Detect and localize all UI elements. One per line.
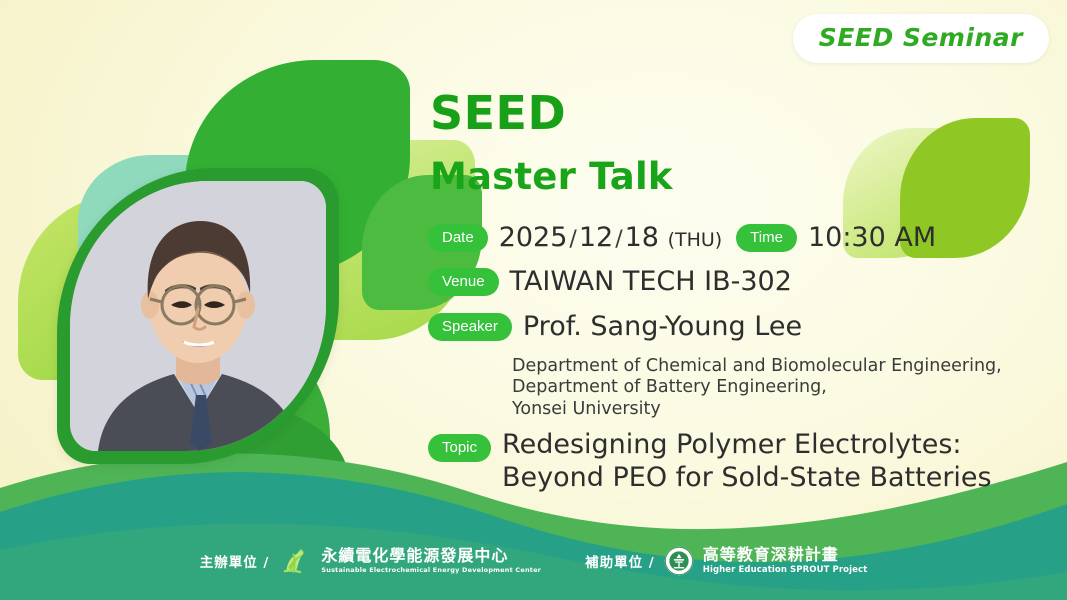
date-separator-2: / <box>613 227 624 252</box>
date-weekday: (THU) <box>668 229 723 251</box>
speaker-block: Speaker Prof. Sang-Young Lee Department … <box>428 311 1038 420</box>
date-month: 12 <box>579 222 613 253</box>
speaker-row: Speaker Prof. Sang-Young Lee <box>428 311 1038 345</box>
host-name-en: Sustainable Electrochemical Energy Devel… <box>321 567 541 574</box>
speaker-affiliation: Department of Chemical and Biomolecular … <box>512 356 1038 420</box>
speaker-portrait-frame <box>57 168 339 464</box>
date-time-row: Date 2025/12/18 (THU) Time 10:30 AM <box>428 223 1038 256</box>
sponsor-label: 補助單位 / <box>585 551 655 571</box>
sponsor-name-en: Higher Education SPROUT Project <box>703 566 868 575</box>
date-day: 18 <box>625 222 659 253</box>
host-name-zh: 永續電化學能源發展中心 <box>321 548 541 565</box>
page-subtitle-master-talk: Master Talk <box>430 158 1038 195</box>
host-label: 主辦單位 / <box>200 551 270 571</box>
date-label-pill: Date <box>428 224 488 252</box>
speaker-affiliation-line-3: Yonsei University <box>512 399 1038 420</box>
sponsor-organization: 補助單位 / 高等教育深耕計畫 Higher Education SPROUT … <box>585 546 867 576</box>
speaker-portrait <box>70 181 326 451</box>
venue-row: Venue TAIWAN TECH IB-302 <box>428 267 1038 300</box>
topic-line-1: Redesigning Polymer Electrolytes: <box>502 429 992 462</box>
sponsor-name-zh: 高等教育深耕計畫 <box>703 547 868 564</box>
host-names: 永續電化學能源發展中心 Sustainable Electrochemical … <box>321 548 541 574</box>
sponsor-names: 高等教育深耕計畫 Higher Education SPROUT Project <box>703 547 868 575</box>
speaker-affiliation-line-1: Department of Chemical and Biomolecular … <box>512 356 1038 377</box>
topic-value: Redesigning Polymer Electrolytes: Beyond… <box>502 429 992 495</box>
seminar-poster: SEED Seminar SEED Master Talk Date 2025/… <box>0 0 1067 600</box>
seed-leaf-logo-icon <box>278 544 312 578</box>
topic-row: Topic Redesigning Polymer Electrolytes: … <box>428 429 1038 495</box>
date-value: 2025/12/18 (THU) <box>499 223 723 253</box>
speaker-affiliation-line-2: Department of Battery Engineering, <box>512 377 1038 398</box>
date-year: 2025 <box>499 222 568 253</box>
venue-label-pill: Venue <box>428 268 499 296</box>
time-value: 10:30 AM <box>808 223 936 253</box>
page-title-seed: SEED <box>430 90 1038 136</box>
date-separator-1: / <box>567 227 578 252</box>
poster-content: SEED Master Talk Date 2025/12/18 (THU) T… <box>428 90 1038 495</box>
time-label-pill: Time <box>736 224 797 252</box>
host-organization: 主辦單位 / 永續電化學能源發展中心 Sustainable Electroch… <box>200 544 541 578</box>
venue-value: TAIWAN TECH IB-302 <box>510 267 792 297</box>
poster-footer: 主辦單位 / 永續電化學能源發展中心 Sustainable Electroch… <box>0 522 1067 600</box>
moe-seal-logo-icon <box>664 546 694 576</box>
speaker-photo-illustration <box>70 181 326 451</box>
speaker-label-pill: Speaker <box>428 313 512 341</box>
topic-label-pill: Topic <box>428 434 491 462</box>
topic-line-2: Beyond PEO for Sold-State Batteries <box>502 462 992 495</box>
seed-seminar-badge: SEED Seminar <box>793 14 1049 63</box>
seed-seminar-badge-label: SEED Seminar <box>819 23 1023 52</box>
speaker-name: Prof. Sang-Young Lee <box>523 311 802 342</box>
